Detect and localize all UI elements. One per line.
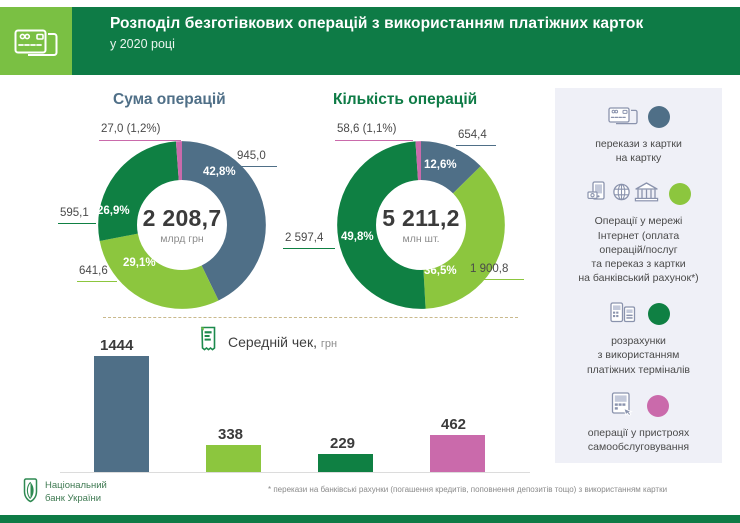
page-subtitle: у 2020 році xyxy=(110,37,726,51)
legend-dot-internet xyxy=(669,183,691,205)
donut2-leader-blue xyxy=(456,145,496,146)
bar-internet xyxy=(206,445,261,472)
page-title: Розподіл безготівкових операцій з викори… xyxy=(110,14,726,34)
donut1-pct-darkgreen: 26,9% xyxy=(97,205,130,217)
legend-item-self-service[interactable]: операції у пристрояхсамообслуговування xyxy=(563,391,714,454)
legend-panel: перекази з карткина картку xyxy=(555,88,722,463)
donut2-svg xyxy=(336,140,506,310)
donut1-leader-lightgreen xyxy=(77,281,117,282)
payment-cards-icon xyxy=(608,103,638,132)
bar-chart-baseline xyxy=(60,472,530,473)
legend-dot-self-service xyxy=(647,395,669,417)
nbu-logo-icon xyxy=(22,477,39,508)
legend-row xyxy=(563,391,714,421)
bar-value-internet: 338 xyxy=(218,426,243,443)
bar-chart-heading: Середній чек, грн xyxy=(198,325,337,358)
globe-icon xyxy=(612,182,631,207)
legend-row xyxy=(563,179,714,209)
receipt-icon xyxy=(198,325,220,358)
footnote: * перекази на банківські рахунки (погаше… xyxy=(268,485,730,495)
legend-dot-card-to-card xyxy=(648,106,670,128)
bar-chart-title-text: Середній чек, xyxy=(228,334,317,350)
payment-cards-icon xyxy=(14,22,58,61)
pos-terminal-icon xyxy=(608,299,638,330)
legend-item-pos-terminals[interactable]: розрахункиз використаннямплатіжних термi… xyxy=(563,299,714,377)
donut1-leader-darkgreen xyxy=(58,223,96,224)
donut2-label-blue: 654,4 xyxy=(458,129,487,143)
donut1-pct-lightgreen: 29,1% xyxy=(123,257,156,269)
legend-icons xyxy=(608,299,638,330)
donut2-label-darkgreen: 2 597,4 xyxy=(285,232,323,246)
donut1-leader-blue xyxy=(235,166,277,167)
bank-icon xyxy=(634,181,659,208)
legend-icons xyxy=(609,390,637,421)
bar-card-to-card xyxy=(94,356,149,472)
donut2-leader-pink xyxy=(335,140,413,141)
donut2-label-pink: 58,6 (1,1%) xyxy=(337,123,396,137)
donut2-label-lightgreen: 1 900,8 xyxy=(470,263,508,277)
atm-icon xyxy=(609,390,637,421)
nbu-logo: Національний банк України xyxy=(22,477,107,508)
legend-row xyxy=(563,102,714,132)
legend-label-pos-terminals: розрахункиз використаннямплатіжних термi… xyxy=(563,334,714,377)
legend-item-internet[interactable]: Операції у мережіІнтернет (оплатаопераці… xyxy=(563,179,714,285)
donut1-leader-pink xyxy=(99,140,181,141)
donut2-pct-darkgreen: 49,8% xyxy=(341,231,374,243)
nbu-logo-line1: Національний xyxy=(45,480,107,491)
donut1-pct-blue: 42,8% xyxy=(203,166,236,178)
legend-dot-pos-terminals xyxy=(648,303,670,325)
footer-accent-bar xyxy=(0,515,740,523)
donut2-pct-blue: 12,6% xyxy=(424,159,457,171)
legend-label-internet: Операції у мережіІнтернет (оплатаопераці… xyxy=(563,214,714,285)
donut2-leader-lightgreen xyxy=(468,279,524,280)
donut-chart-count: 5 211,2 млн шт. xyxy=(336,140,506,310)
donut1-title: Сума операцій xyxy=(113,91,226,109)
header: Розподіл безготівкових операцій з викори… xyxy=(0,7,740,75)
legend-icons xyxy=(608,103,638,132)
legend-row xyxy=(563,299,714,329)
donut1-label-darkgreen: 595,1 xyxy=(60,207,89,221)
nbu-logo-text: Національний банк України xyxy=(45,480,107,506)
bar-value-self-service: 462 xyxy=(441,416,466,433)
bar-value-pos-terminals: 229 xyxy=(330,435,355,452)
legend-icons xyxy=(587,180,659,209)
infographic-page: Розподіл безготівкових операцій з викори… xyxy=(0,0,740,523)
donut1-label-pink: 27,0 (1,2%) xyxy=(101,123,160,137)
donut2-leader-darkgreen xyxy=(283,248,335,249)
donut2-pct-lightgreen: 36,5% xyxy=(424,265,457,277)
bar-self-service xyxy=(430,435,485,472)
header-icon-block xyxy=(0,7,72,75)
donut1-label-lightgreen: 641,6 xyxy=(79,265,108,279)
bar-chart-average-ticket: Середній чек, грн 1444 338 229 462 xyxy=(60,325,530,473)
legend-item-card-to-card[interactable]: перекази з карткина картку xyxy=(563,102,714,165)
section-divider xyxy=(103,317,518,318)
legend-label-self-service: операції у пристрояхсамообслуговування xyxy=(563,426,714,454)
legend-label-card-to-card: перекази з карткина картку xyxy=(563,137,714,165)
bar-chart-unit: грн xyxy=(321,338,337,350)
bar-chart-title: Середній чек, грн xyxy=(228,334,337,350)
donut2-title: Кількість операцій xyxy=(333,91,477,109)
donut1-label-blue: 945,0 xyxy=(237,150,266,164)
header-text-block: Розподіл безготівкових операцій з викори… xyxy=(72,7,740,75)
nbu-logo-line2: банк України xyxy=(45,493,101,504)
bar-value-card-to-card: 1444 xyxy=(100,337,133,354)
bar-pos-terminals xyxy=(318,454,373,472)
mobile-payment-icon xyxy=(587,180,609,209)
